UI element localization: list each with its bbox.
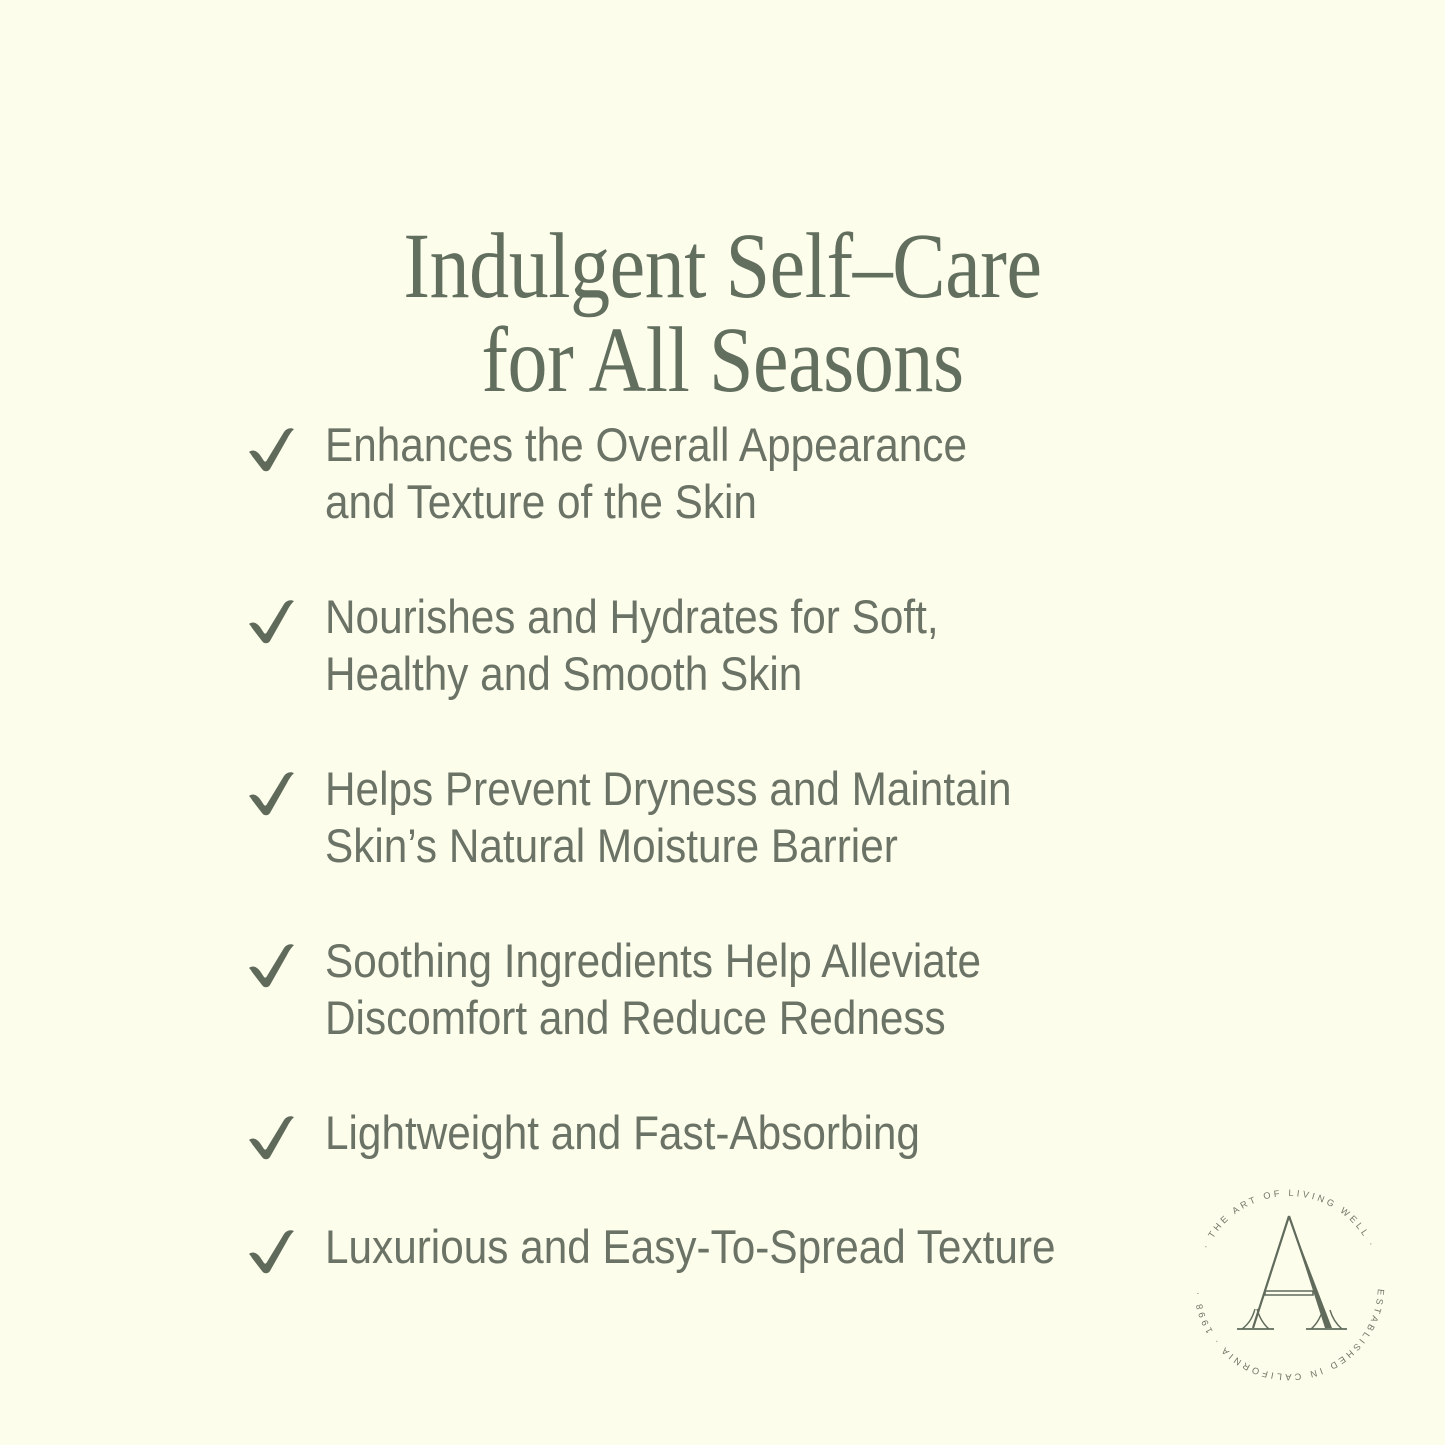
benefit-item: Helps Prevent Dryness and Maintain Skin’… [243, 758, 1243, 874]
checkmark-icon [243, 420, 301, 478]
marketing-poster: Indulgent Self–Care for All Seasons Enha… [0, 0, 1445, 1445]
page-title: Indulgent Self–Care for All Seasons [101, 220, 1344, 408]
benefit-text: Nourishes and Hydrates for Soft, Healthy… [325, 586, 939, 702]
checkmark-icon [243, 1222, 301, 1280]
benefit-text: Soothing Ingredients Help Alleviate Disc… [325, 930, 981, 1046]
benefit-item: Lightweight and Fast-Absorbing [243, 1102, 1243, 1166]
checkmark-icon [243, 936, 301, 994]
benefit-item: Soothing Ingredients Help Alleviate Disc… [243, 930, 1243, 1046]
brand-logo: · THE ART OF LIVING WELL · ESTABLISHED I… [1182, 1178, 1396, 1392]
logo-monogram-a [1237, 1216, 1347, 1329]
checkmark-icon [243, 592, 301, 650]
benefit-text: Enhances the Overall Appearance and Text… [325, 414, 967, 530]
page-title-line-1: Indulgent Self–Care [101, 220, 1344, 314]
benefit-item: Nourishes and Hydrates for Soft, Healthy… [243, 586, 1243, 702]
benefit-text: Helps Prevent Dryness and Maintain Skin’… [325, 758, 1012, 874]
benefit-text: Luxurious and Easy-To-Spread Texture [325, 1216, 1055, 1275]
logo-ring-text-bottom: ESTABLISHED IN CALIFORNIA · 1998 · [1192, 1289, 1386, 1383]
benefits-list: Enhances the Overall Appearance and Text… [243, 414, 1243, 1330]
checkmark-icon [243, 764, 301, 822]
benefit-item: Enhances the Overall Appearance and Text… [243, 414, 1243, 530]
page-title-line-2: for All Seasons [101, 314, 1344, 408]
benefit-text: Lightweight and Fast-Absorbing [325, 1102, 920, 1161]
benefit-item: Luxurious and Easy-To-Spread Texture [243, 1216, 1243, 1280]
checkmark-icon [243, 1108, 301, 1166]
